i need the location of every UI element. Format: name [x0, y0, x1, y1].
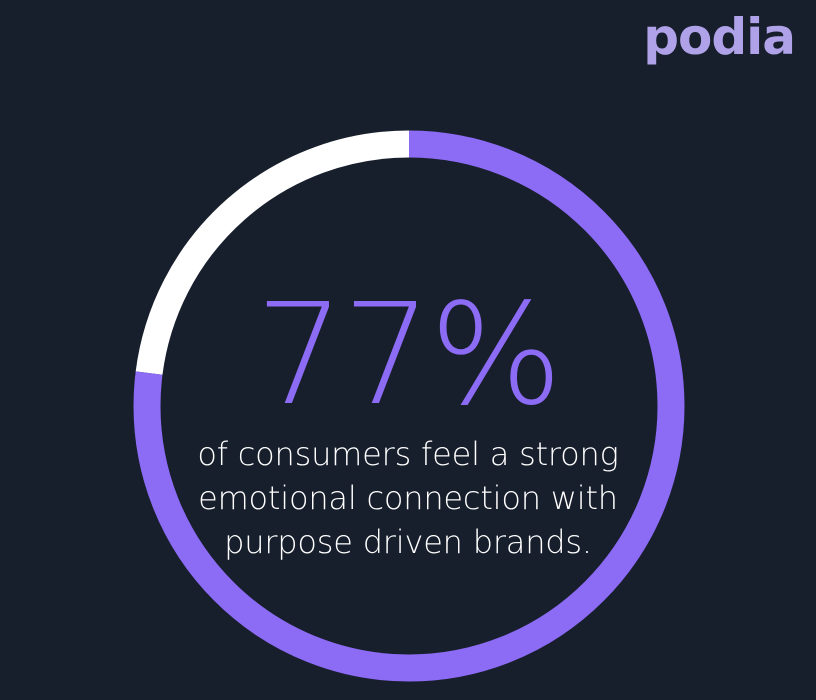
podia-logo: podia — [643, 12, 795, 62]
stat-description-line-2: emotional connection with — [0, 476, 816, 520]
stat-description-line-1: of consumers feel a strong — [0, 432, 816, 476]
infographic-canvas: podia 77% of consumers feel a strong emo… — [0, 0, 816, 700]
stat-description-line-3: purpose driven brands. — [0, 520, 816, 564]
stat-percentage: 77% — [0, 286, 816, 426]
stat-description: of consumers feel a strong emotional con… — [0, 432, 816, 564]
